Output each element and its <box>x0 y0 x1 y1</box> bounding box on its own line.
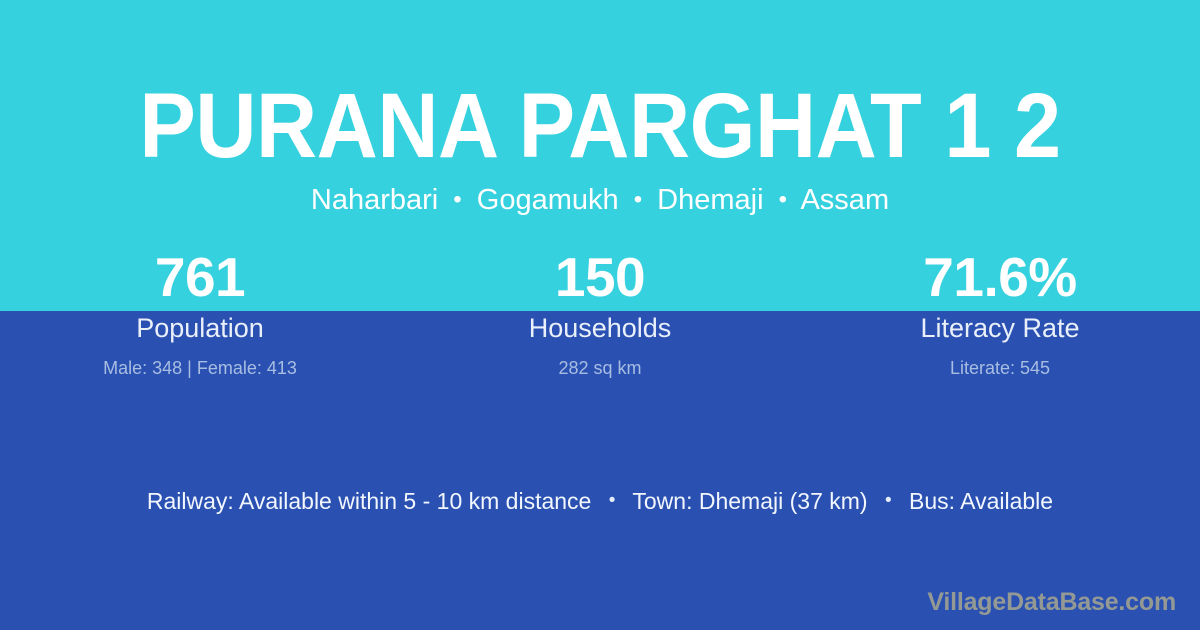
facility-bus: Bus: Available <box>909 488 1053 514</box>
facility-separator-icon: • <box>874 490 903 511</box>
breadcrumb-separator-icon: • <box>446 186 468 213</box>
stat-label-literacy-rate: Literacy Rate <box>800 311 1200 345</box>
facility-separator-icon: • <box>598 490 627 511</box>
stat-literacy-rate: 71.6% Literacy Rate Literate: 545 <box>800 246 1200 380</box>
stat-households: 150 Households 282 sq km <box>400 246 800 380</box>
breadcrumb-part-village: Naharbari <box>311 184 438 216</box>
page-title: PURANA PARGHAT 1 2 <box>48 78 1152 174</box>
statistics-row: 761 Population Male: 348 | Female: 413 1… <box>0 246 1200 380</box>
stat-sub-literacy-rate: Literate: 545 <box>800 356 1200 380</box>
breadcrumb-part-state: Assam <box>800 184 889 216</box>
stat-sub-population: Male: 348 | Female: 413 <box>0 356 400 380</box>
stat-value-population: 761 <box>0 246 400 308</box>
stat-sub-households: 282 sq km <box>400 356 800 380</box>
breadcrumb-separator-icon: • <box>627 186 649 213</box>
stat-label-households: Households <box>400 311 800 345</box>
location-breadcrumb: Naharbari • Gogamukh • Dhemaji • Assam <box>0 182 1200 220</box>
stat-value-literacy-rate: 71.6% <box>800 246 1200 308</box>
site-watermark: VillageDataBase.com <box>927 587 1176 617</box>
stat-value-households: 150 <box>400 246 800 308</box>
stat-population: 761 Population Male: 348 | Female: 413 <box>0 246 400 380</box>
breadcrumb-part-district: Dhemaji <box>657 184 763 216</box>
village-info-card: PURANA PARGHAT 1 2 Naharbari • Gogamukh … <box>0 0 1200 630</box>
facilities-line: Railway: Available within 5 - 10 km dist… <box>0 485 1200 520</box>
facility-railway: Railway: Available within 5 - 10 km dist… <box>147 488 591 514</box>
breadcrumb-separator-icon: • <box>772 186 794 213</box>
stat-label-population: Population <box>0 311 400 345</box>
facility-town: Town: Dhemaji (37 km) <box>632 488 867 514</box>
breadcrumb-part-block: Gogamukh <box>477 184 619 216</box>
